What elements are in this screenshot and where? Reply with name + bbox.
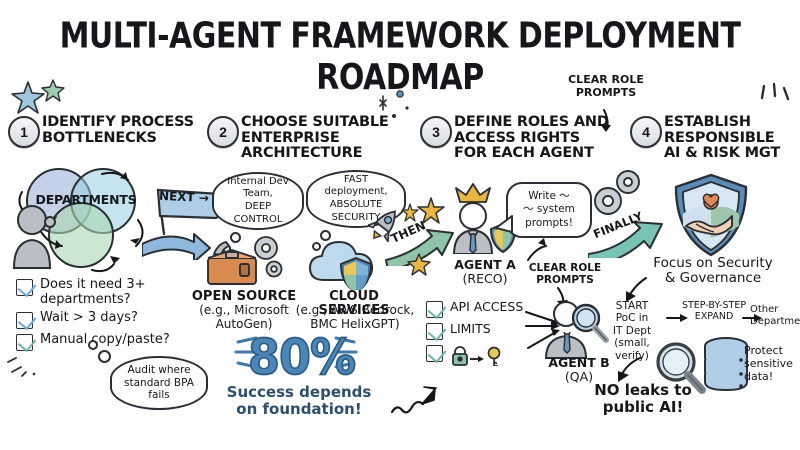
squiggle-arrow-icon <box>390 382 446 416</box>
thought-bubble-dot <box>98 350 111 363</box>
lock-to-key-icon <box>450 344 510 366</box>
thought-bubble-audit: Audit where standard BPA fails <box>110 356 208 410</box>
star-gold-small-icon <box>406 252 434 278</box>
sparkle-dots-icon <box>4 354 50 380</box>
stat-value: 80% <box>248 328 348 385</box>
step-1-number-label: 1 <box>8 116 40 148</box>
step-4-title: ESTABLISH RESPONSIBLE AI & RISK MGT <box>664 115 800 162</box>
checkbox-icon[interactable] <box>16 279 33 296</box>
step-2-number: 2 <box>207 116 239 148</box>
arrow-up-curve-icon <box>524 238 550 262</box>
thought-bubble-internal-dev: Internal Dev Team, DEEP CONTROL <box>212 172 304 230</box>
flow-step-other-departments: Other Departments <box>750 304 800 328</box>
checklist-label: Does it need 3+ departments? <box>40 278 146 307</box>
infographic-canvas: MULTI-AGENT FRAMEWORK DEPLOYMENT ROADMAP… <box>0 0 800 450</box>
checkbox-icon[interactable] <box>16 334 33 351</box>
thought-bubble-dot <box>88 340 98 350</box>
sparkle-dots-icon <box>374 88 420 122</box>
toolbox-gears-icon <box>200 228 286 290</box>
checklist-item[interactable]: Wait > 3 days? <box>16 311 196 329</box>
speech-tail-icon <box>494 214 514 238</box>
checklist-label: API ACCESS <box>450 300 523 314</box>
step-3-top-note: CLEAR ROLE PROMPTS <box>546 74 666 99</box>
checklist-item[interactable]: LIMITS <box>426 322 536 340</box>
step-1-checklist: Does it need 3+ departments? Wait > 3 da… <box>16 278 196 355</box>
checkbox-icon[interactable] <box>426 301 443 318</box>
checkbox-icon[interactable] <box>16 312 33 329</box>
step-3-mid-note: CLEAR ROLE PROMPTS <box>516 262 614 286</box>
shield-caption: Focus on Security & Governance <box>640 256 786 287</box>
checklist-item[interactable] <box>426 344 536 366</box>
step-2-number-label: 2 <box>207 116 239 148</box>
checklist-label: LIMITS <box>450 322 491 336</box>
step-4-number-label: 4 <box>630 116 662 148</box>
sparkle-lines-icon <box>758 82 794 116</box>
connector-next-label: NEXT → <box>159 189 210 206</box>
step-3-number: 3 <box>420 116 452 148</box>
checkbox-icon[interactable] <box>426 323 443 340</box>
step-4-number: 4 <box>630 116 662 148</box>
step-1-title: IDENTIFY PROCESS BOTTLENECKS <box>42 115 202 146</box>
checklist-label: Wait > 3 days? <box>40 311 138 326</box>
person-thinking-icon <box>8 202 78 272</box>
flow-step-expand: STEP-BY-STEP EXPAND <box>676 300 752 323</box>
page-title: MULTI-AGENT FRAMEWORK DEPLOYMENT ROADMAP <box>0 16 800 99</box>
step-3-title: DEFINE ROLES AND ACCESS RIGHTS FOR EACH … <box>454 115 634 162</box>
no-leaks-warning: NO leaks to public AI! <box>588 382 698 415</box>
speech-bubble-write-prompts: Write 〜 〜 system prompts! <box>506 182 592 238</box>
protect-data-note: Protect sensitive data! <box>744 344 800 384</box>
checkbox-icon[interactable] <box>426 345 443 362</box>
step-3-checklist: API ACCESS LIMITS <box>426 300 536 370</box>
stat-caption: Success depends on foundation! <box>218 384 380 418</box>
step-2-title: CHOOSE SUITABLE ENTERPRISE ARCHITECTURE <box>241 115 411 162</box>
checklist-label: Manual copy/paste? <box>40 333 170 348</box>
checklist-item[interactable]: Manual copy/paste? <box>16 333 196 351</box>
step-3-number-label: 3 <box>420 116 452 148</box>
shield-handshake-icon <box>672 172 750 258</box>
step-1-number: 1 <box>8 116 40 148</box>
checklist-item[interactable]: Does it need 3+ departments? <box>16 278 196 307</box>
star-green-icon <box>40 78 70 104</box>
star-gold-icon <box>416 196 450 226</box>
checklist-item[interactable]: API ACCESS <box>426 300 536 318</box>
